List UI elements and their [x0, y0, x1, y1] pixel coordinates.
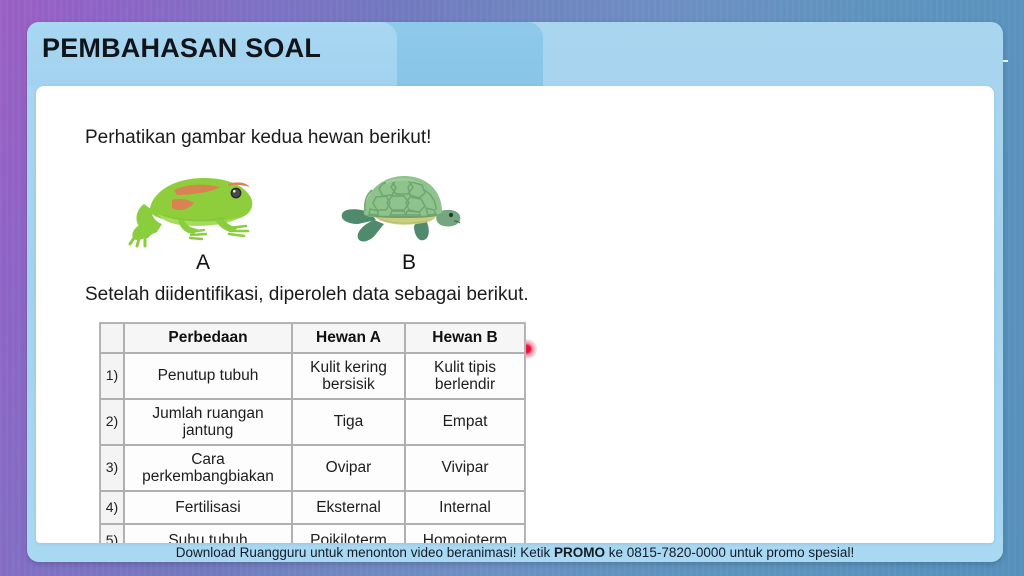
row-hewan-b: Vivipar [405, 445, 525, 491]
row-hewan-a: Eksternal [292, 491, 405, 524]
slide-card: PEMBAHASAN SOAL Perhatikan gambar kedua … [27, 22, 1003, 562]
header-tab: PEMBAHASAN SOAL [27, 22, 543, 86]
intro-text: Perhatikan gambar kedua hewan berikut! [85, 127, 431, 149]
table-header-hewan-b: Hewan B [405, 323, 525, 353]
row-hewan-b: Homoioterm [405, 524, 525, 543]
row-hewan-a: Ovipar [292, 445, 405, 491]
row-number: 2) [100, 399, 124, 445]
row-number: 5) [100, 524, 124, 543]
promo-footer-text: Download Ruangguru untuk menonton video … [176, 545, 854, 560]
row-number: 4) [100, 491, 124, 524]
row-hewan-a: Tiga [292, 399, 405, 445]
figure-b: B [334, 168, 484, 275]
table-row: 4) Fertilisasi Eksternal Internal [100, 491, 525, 524]
row-number: 1) [100, 353, 124, 399]
slide-screenshot: ruang guru PEMBAHASAN SOAL Perhatikan ga… [0, 0, 1024, 576]
table-row: 5) Suhu tubuh Poikiloterm Homoioterm [100, 524, 525, 543]
row-hewan-b: Kulit tipis berlendir [405, 353, 525, 399]
comparison-table: Perbedaan Hewan A Hewan B 1) Penutup tub… [99, 322, 526, 543]
content-panel: Perhatikan gambar kedua hewan berikut! [36, 86, 994, 543]
row-perbedaan: Cara perkembangbiakan [124, 445, 292, 491]
row-perbedaan: Jumlah ruangan jantung [124, 399, 292, 445]
row-perbedaan: Penutup tubuh [124, 353, 292, 399]
table-row: 2) Jumlah ruangan jantung Tiga Empat [100, 399, 525, 445]
table-row: 3) Cara perkembangbiakan Ovipar Vivipar [100, 445, 525, 491]
table-header-number [100, 323, 124, 353]
page-title: PEMBAHASAN SOAL [42, 33, 321, 64]
row-perbedaan: Fertilisasi [124, 491, 292, 524]
promo-text-before: Download Ruangguru untuk menonton video … [176, 545, 554, 560]
row-perbedaan: Suhu tubuh [124, 524, 292, 543]
promo-text-after: ke 0815-7820-0000 untuk promo spesial! [605, 545, 854, 560]
table-row: 1) Penutup tubuh Kulit kering bersisik K… [100, 353, 525, 399]
figure-a: A [128, 168, 278, 275]
after-text: Setelah diidentifikasi, diperoleh data s… [85, 284, 529, 306]
figure-a-caption: A [128, 251, 278, 275]
row-number: 3) [100, 445, 124, 491]
table-header-perbedaan: Perbedaan [124, 323, 292, 353]
row-hewan-b: Empat [405, 399, 525, 445]
table-header-row: Perbedaan Hewan A Hewan B [100, 323, 525, 353]
promo-footer: Download Ruangguru untuk menonton video … [27, 543, 1003, 562]
row-hewan-b: Internal [405, 491, 525, 524]
promo-keyword: PROMO [554, 545, 605, 560]
frog-illustration [128, 168, 278, 250]
turtle-illustration [334, 168, 484, 250]
row-hewan-a: Kulit kering bersisik [292, 353, 405, 399]
figure-b-caption: B [334, 251, 484, 275]
row-hewan-a: Poikiloterm [292, 524, 405, 543]
table-header-hewan-a: Hewan A [292, 323, 405, 353]
